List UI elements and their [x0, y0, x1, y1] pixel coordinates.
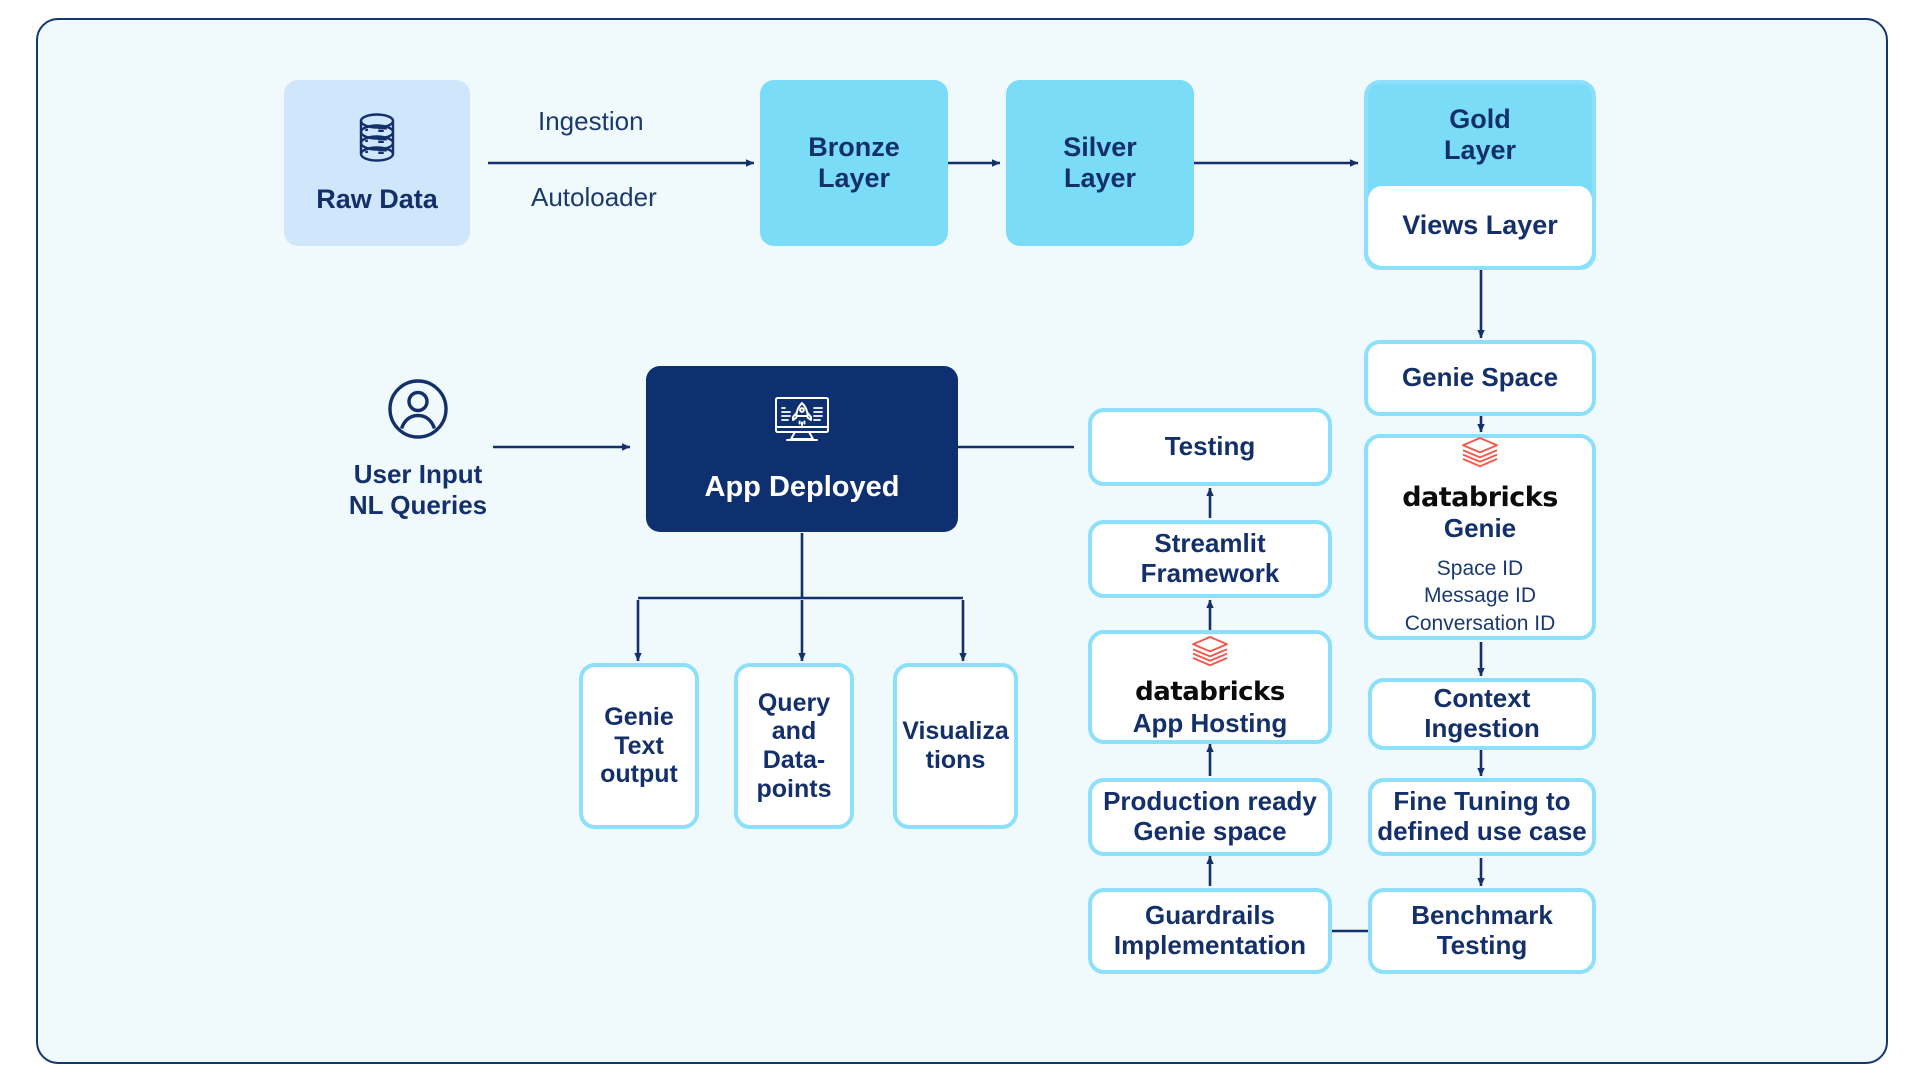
genie-id-message: Message ID [1424, 582, 1536, 610]
node-query-and-datapoints[interactable]: Query and Data- points [734, 663, 854, 829]
node-label-line1: Gold [1449, 104, 1511, 135]
user-circle-icon [387, 378, 449, 447]
node-bronze-layer[interactable]: Bronze Layer [760, 80, 948, 246]
node-label: Testing [1165, 432, 1256, 462]
node-label: App Deployed [705, 471, 900, 504]
node-label-line1: Query [758, 689, 830, 718]
node-production-ready-genie-space[interactable]: Production ready Genie space [1088, 778, 1332, 856]
database-icon [354, 111, 400, 172]
node-guardrails-implementation[interactable]: Guardrails Implementation [1088, 888, 1332, 974]
node-label-line2: defined use case [1377, 817, 1587, 847]
node-fine-tuning[interactable]: Fine Tuning to defined use case [1368, 778, 1596, 856]
node-views-layer[interactable]: Views Layer [1368, 186, 1592, 266]
node-app-deployed[interactable]: App Deployed [646, 366, 958, 532]
node-label-line2: Framework [1141, 559, 1280, 589]
node-silver-layer[interactable]: Silver Layer [1006, 80, 1194, 246]
node-label-line1: Guardrails [1145, 901, 1275, 931]
node-label-line2: Layer [1444, 135, 1516, 166]
edge-label-autoloader: Autoloader [531, 182, 657, 213]
node-genie-text-output[interactable]: Genie Text output [579, 663, 699, 829]
node-label: Genie Space [1402, 363, 1558, 393]
node-label-line2: Text [614, 732, 664, 761]
node-streamlit-framework[interactable]: Streamlit Framework [1088, 520, 1332, 598]
node-label-line1: Fine Tuning to [1393, 787, 1570, 817]
node-label-line1: Genie [604, 703, 673, 732]
node-label-line1: Visualiza [902, 717, 1009, 746]
monitor-rocket-icon [769, 394, 835, 458]
node-testing[interactable]: Testing [1088, 408, 1332, 486]
node-label-line1: Benchmark [1411, 901, 1553, 931]
node-label-line1: Production ready [1103, 787, 1317, 817]
diagram-card: Raw Data Bronze Layer Silver Layer Gold … [36, 18, 1888, 1064]
node-label: Raw Data [316, 184, 438, 215]
genie-id-space: Space ID [1437, 555, 1523, 583]
node-label-line2: NL Queries [349, 490, 487, 521]
databricks-brand-text: databricks [1135, 678, 1285, 708]
databricks-logo-icon [1190, 635, 1230, 674]
databricks-brand-text: databricks [1402, 482, 1558, 513]
node-benchmark-testing[interactable]: Benchmark Testing [1368, 888, 1596, 974]
node-gold-layer: Gold Layer [1368, 84, 1592, 186]
node-label-line2: Testing [1437, 931, 1528, 961]
node-label-line2: tions [926, 746, 986, 775]
node-label-line4: points [757, 775, 832, 804]
node-label-line2: and [772, 717, 816, 746]
node-raw-data[interactable]: Raw Data [284, 80, 470, 246]
node-label-line2: Ingestion [1424, 714, 1540, 744]
node-label-line2: Implementation [1114, 931, 1306, 961]
node-databricks-genie[interactable]: databricks Genie Space ID Message ID Con… [1364, 434, 1596, 640]
node-label-line1: User Input [354, 459, 483, 490]
node-label-line2: Genie space [1133, 817, 1286, 847]
node-label-line2: Layer [1064, 163, 1136, 194]
databricks-product-text: Genie [1444, 514, 1516, 544]
node-label-line1: Context [1434, 684, 1531, 714]
node-label-line1: Bronze [808, 132, 900, 163]
node-label-line3: output [600, 760, 678, 789]
node-label-line2: Layer [818, 163, 890, 194]
databricks-product-text: App Hosting [1133, 709, 1288, 739]
node-label-line1: Silver [1063, 132, 1137, 163]
node-context-ingestion[interactable]: Context Ingestion [1368, 678, 1596, 750]
node-gold-layer-group[interactable]: Gold Layer Views Layer [1364, 80, 1596, 270]
databricks-logo-icon [1460, 436, 1500, 475]
node-genie-space[interactable]: Genie Space [1364, 340, 1596, 416]
node-visualizations[interactable]: Visualiza tions [893, 663, 1018, 829]
node-label-line3: Data- [763, 746, 826, 775]
node-label: Views Layer [1402, 210, 1558, 241]
genie-id-conversation: Conversation ID [1405, 610, 1556, 638]
node-databricks-app-hosting[interactable]: databricks App Hosting [1088, 630, 1332, 744]
node-label-line1: Streamlit [1154, 529, 1265, 559]
node-user-input[interactable]: User Input NL Queries [328, 378, 508, 522]
edge-label-ingestion: Ingestion [538, 106, 644, 137]
